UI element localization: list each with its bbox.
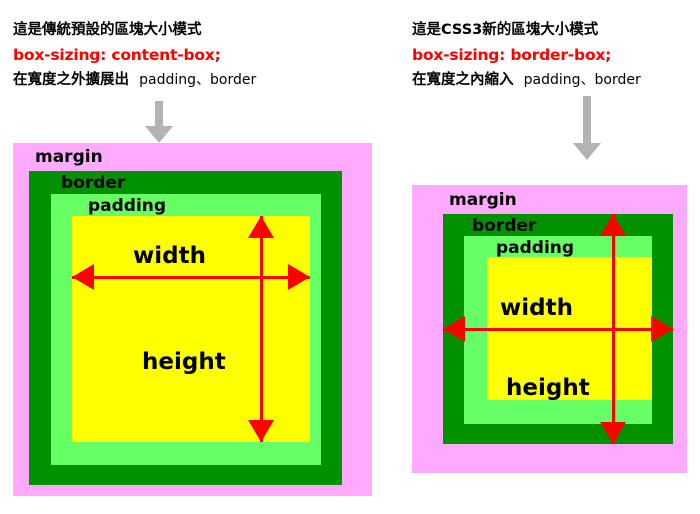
box-model-diagram-content-box: margin border padding width height <box>13 143 372 496</box>
caption-border-box: 這是CSS3新的區塊大小模式 box-sizing: border-box; 在… <box>412 18 641 93</box>
border-label-right: border <box>472 216 536 236</box>
arrow-shaft <box>583 96 591 144</box>
width-line <box>72 276 310 279</box>
arrow-head <box>573 143 601 160</box>
caption-right-line1: 這是CSS3新的區塊大小模式 <box>412 18 641 43</box>
height-line <box>260 216 263 442</box>
margin-label-right: margin <box>449 190 517 210</box>
caption-left-line3-bold: 在寬度之外擴展出 <box>13 72 129 88</box>
arrow-head <box>145 126 173 143</box>
height-line <box>612 214 615 444</box>
width-label-right: width <box>500 295 573 321</box>
width-arrowhead-right <box>651 316 673 342</box>
box-model-diagram-border-box: margin border padding width height <box>412 185 687 473</box>
caption-right-line3-light: padding、border <box>524 72 641 88</box>
height-arrowhead-down <box>600 422 626 444</box>
height-arrowhead-up <box>600 214 626 236</box>
height-label-left: height <box>142 349 226 375</box>
height-arrowhead-up <box>248 216 274 238</box>
height-arrowhead-down <box>248 420 274 442</box>
caption-right-line3-bold: 在寬度之內縮入 <box>412 72 514 88</box>
caption-left-line3-light: padding、border <box>139 72 256 88</box>
caption-content-box: 這是傳統預設的區塊大小模式 box-sizing: content-box; 在… <box>13 18 256 93</box>
height-label-right: height <box>506 375 590 401</box>
caption-left-code: box-sizing: content-box; <box>13 43 256 68</box>
width-arrowhead-left <box>72 264 94 290</box>
caption-left-line3: 在寬度之外擴展出 padding、border <box>13 68 256 93</box>
padding-label-left: padding <box>88 196 166 216</box>
width-arrowhead-left <box>443 316 465 342</box>
margin-label-left: margin <box>35 147 103 167</box>
border-label-left: border <box>61 173 125 193</box>
width-label-left: width <box>133 243 206 269</box>
width-arrowhead-right <box>288 264 310 290</box>
caption-right-code: box-sizing: border-box; <box>412 43 641 68</box>
padding-label-right: padding <box>496 238 574 258</box>
arrow-shaft <box>155 101 163 127</box>
caption-left-line1: 這是傳統預設的區塊大小模式 <box>13 18 256 43</box>
diagram-canvas: 這是傳統預設的區塊大小模式 box-sizing: content-box; 在… <box>0 0 700 514</box>
caption-right-line3: 在寬度之內縮入 padding、border <box>412 68 641 93</box>
width-line <box>443 328 673 331</box>
